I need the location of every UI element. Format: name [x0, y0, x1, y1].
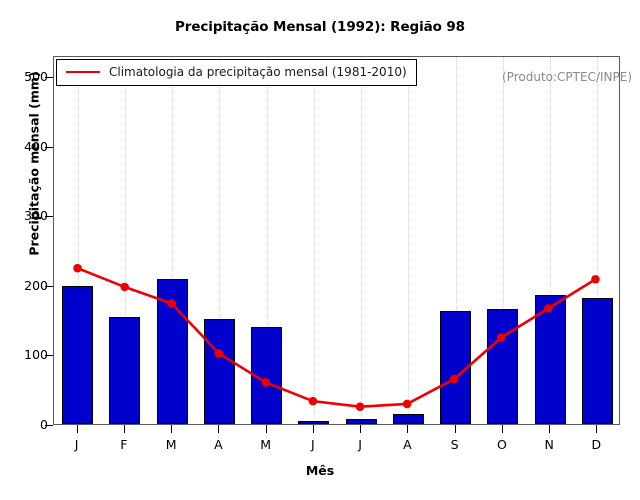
legend: Climatologia da precipitação mensal (198… — [56, 59, 417, 86]
climatology-line — [78, 268, 596, 406]
x-tick-mark — [549, 425, 550, 433]
x-tick-label-S: S — [435, 437, 475, 452]
x-tick-label-J: J — [57, 437, 97, 452]
x-tick-label-O: O — [482, 437, 522, 452]
x-tick-mark — [171, 425, 172, 433]
line-series — [54, 57, 619, 424]
x-tick-label-J: J — [340, 437, 380, 452]
x-tick-label-M: M — [246, 437, 286, 452]
climatology-marker-J — [73, 264, 82, 273]
climatology-marker-S — [450, 375, 459, 384]
x-tick-label-J: J — [293, 437, 333, 452]
y-tick-label: 0 — [0, 417, 48, 432]
x-tick-mark — [218, 425, 219, 433]
x-tick-mark — [360, 425, 361, 433]
x-tick-label-A: A — [198, 437, 238, 452]
climatology-marker-J — [309, 397, 318, 406]
x-axis-title: Mês — [0, 463, 640, 478]
plot-area — [53, 56, 620, 425]
legend-line-swatch — [66, 71, 100, 73]
climatology-marker-O — [497, 333, 506, 342]
x-tick-label-D: D — [576, 437, 616, 452]
climatology-marker-A — [215, 349, 224, 358]
y-axis-title: Precipitação mensal (mm) — [27, 34, 42, 294]
legend-item-label: Climatologia da precipitação mensal (198… — [109, 65, 407, 79]
source-annotation: (Produto:CPTEC/INPE) — [502, 70, 632, 84]
x-tick-mark — [313, 425, 314, 433]
x-tick-mark — [502, 425, 503, 433]
x-tick-label-M: M — [151, 437, 191, 452]
x-tick-mark — [407, 425, 408, 433]
chart-figure: Precipitação Mensal (1992): Região 98 01… — [0, 0, 640, 500]
climatology-marker-M — [262, 378, 271, 387]
climatology-marker-N — [544, 304, 553, 313]
x-tick-label-A: A — [387, 437, 427, 452]
x-tick-mark — [455, 425, 456, 433]
climatology-marker-J — [356, 402, 365, 411]
climatology-marker-F — [120, 283, 129, 292]
climatology-marker-M — [167, 299, 176, 308]
page-title: Precipitação Mensal (1992): Região 98 — [0, 19, 640, 35]
x-tick-mark — [124, 425, 125, 433]
y-tick-label: 100 — [0, 347, 48, 362]
x-tick-mark — [77, 425, 78, 433]
climatology-marker-D — [591, 275, 600, 284]
x-tick-mark — [266, 425, 267, 433]
x-tick-label-F: F — [104, 437, 144, 452]
x-tick-label-N: N — [529, 437, 569, 452]
x-tick-mark — [596, 425, 597, 433]
climatology-marker-A — [403, 400, 412, 409]
